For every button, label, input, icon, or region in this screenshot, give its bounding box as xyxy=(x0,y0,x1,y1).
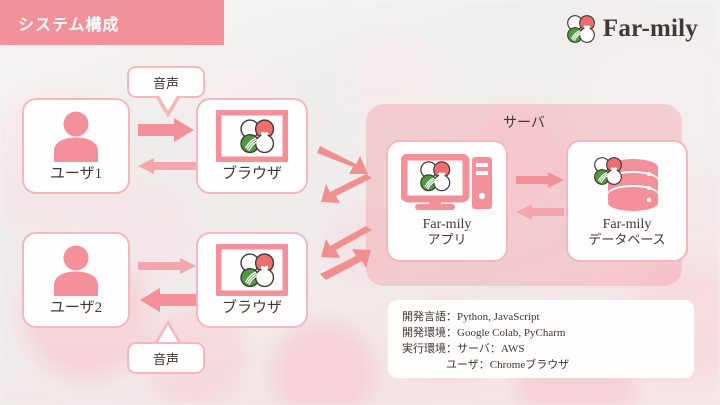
node-user1[interactable]: ユーザ1 xyxy=(22,98,130,194)
db-label-line2: データベース xyxy=(588,233,665,248)
node-browser1[interactable]: ブラウザ xyxy=(196,98,308,194)
app-label-line2: アプリ xyxy=(423,233,472,248)
app-label-line1: Far-mily xyxy=(423,217,472,232)
arrow-user1-to-browser1 xyxy=(138,118,196,142)
node-farmily-database[interactable]: Far-mily データベース xyxy=(566,140,688,262)
slide-title-bar: システム構成 xyxy=(0,0,224,45)
arrow-browser2-server-pair xyxy=(316,224,376,292)
arrow-browser2-to-user2 xyxy=(138,288,196,312)
user-avatar-icon xyxy=(48,244,104,296)
node-user2[interactable]: ユーザ2 xyxy=(22,232,130,328)
node-browser1-label: ブラウザ xyxy=(222,166,282,183)
node-farmily-database-label: Far-mily データベース xyxy=(588,217,665,247)
slide-canvas: システム構成 Far-mily サーバ ユーザ1 ユーザ2 ブラウザ xyxy=(0,0,720,405)
callout-voice-top-label: 音声 xyxy=(153,73,179,92)
callout-tail-bottom-fill xyxy=(158,325,178,342)
node-user2-label: ユーザ2 xyxy=(50,300,102,317)
callout-voice-bottom: 音声 xyxy=(127,342,205,374)
callout-voice-bottom-label: 音声 xyxy=(153,349,179,368)
browser-window-icon xyxy=(216,110,288,162)
info-line-runtime-user: ユーザ：Chromeブラウザ xyxy=(402,357,694,373)
info-line-dev-env: 開発環境：Google Colab, PyCharm xyxy=(402,325,694,341)
desktop-computer-icon xyxy=(401,154,493,212)
node-browser2[interactable]: ブラウザ xyxy=(196,232,308,328)
node-browser2-label: ブラウザ xyxy=(222,300,282,317)
arrow-browser1-to-user1 xyxy=(138,158,196,174)
arrow-user2-to-browser2 xyxy=(138,258,196,274)
database-cylinder-icon xyxy=(591,154,663,212)
arrow-browser1-server-pair xyxy=(316,142,376,204)
page-title: システム構成 xyxy=(0,11,120,35)
arrow-app-to-database xyxy=(516,172,564,188)
info-line-language: 開発言語：Python, JavaScript xyxy=(402,309,694,325)
brand-logo: Far-mily xyxy=(566,14,698,44)
info-line-runtime-server: 実行環境：サーバ：AWS xyxy=(402,341,694,357)
brand-name: Far-mily xyxy=(603,15,698,43)
user-avatar-icon xyxy=(48,110,104,162)
node-farmily-app-label: Far-mily アプリ xyxy=(423,217,472,247)
callout-tail-top-fill xyxy=(158,94,178,111)
node-farmily-app[interactable]: Far-mily アプリ xyxy=(386,140,508,262)
db-label-line1: Far-mily xyxy=(603,217,652,232)
browser-window-icon xyxy=(216,244,288,296)
server-region-label: サーバ xyxy=(366,112,682,132)
arrow-database-to-app xyxy=(516,204,564,220)
environment-info-box: 開発言語：Python, JavaScript 開発環境：Google Cola… xyxy=(388,300,694,378)
clover-logo-icon xyxy=(566,14,596,44)
node-user1-label: ユーザ1 xyxy=(50,166,102,183)
